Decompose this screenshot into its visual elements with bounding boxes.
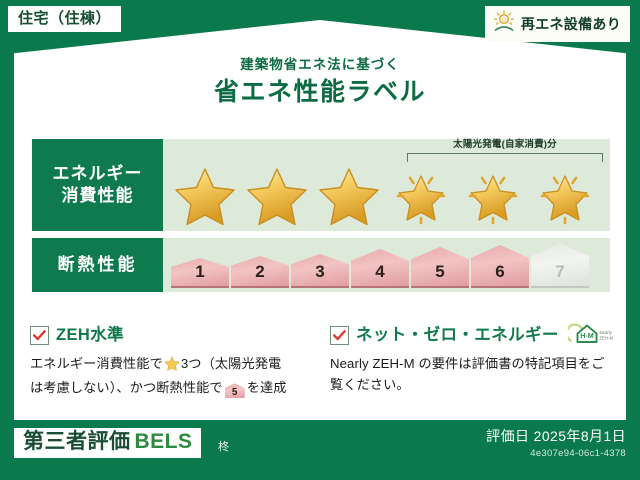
energy-row-panel: 太陽光発電(自家消費)分 — [163, 139, 610, 231]
grade-badge-2: 2 — [231, 256, 289, 288]
zeh-body-part3: を達成 — [247, 380, 287, 395]
solar-annotation-text: 太陽光発電(自家消費)分 — [407, 140, 603, 150]
star-filled-1 — [169, 164, 241, 228]
grade-shape-2: 2 — [231, 256, 289, 288]
zeh-standard-block: ZEH水準 エネルギー消費性能で 3つ（太陽光発電 は考慮しない）、かつ断熱性能… — [30, 324, 314, 399]
grade-badge-1: 1 — [171, 258, 229, 288]
title-block: 建築物省エネ法に基づく 省エネ性能ラベル — [0, 58, 640, 106]
star-filled-3 — [313, 164, 385, 228]
zeh-standard-body: エネルギー消費性能で 3つ（太陽光発電 は考慮しない）、かつ断熱性能で5を達成 — [30, 353, 314, 399]
grade-badge-4: 4 — [351, 249, 409, 288]
net-zero-energy-block: ネット・ゼロ・エネルギー H-M Nearly ZEH-M Nearly ZEH… — [330, 324, 614, 396]
grade-shape-1: 1 — [171, 258, 229, 288]
insulation-row-label: 断熱性能 — [32, 238, 163, 292]
inline-star-icon — [164, 359, 180, 374]
zeh-m-logo-icon: H-M Nearly ZEH-M — [568, 321, 620, 350]
evaluation-id: 4e307e94-06c1-4378 — [486, 449, 626, 459]
net-zero-checkbox — [330, 326, 349, 345]
grade-number-5: 5 — [435, 263, 444, 286]
star-solar-5 — [457, 164, 529, 228]
inline-grade-badge: 5 — [225, 383, 245, 398]
energy-label-line2: 消費性能 — [62, 185, 134, 207]
grade-number-1: 1 — [195, 263, 204, 286]
zeh-standard-title: ZEH水準 — [56, 327, 124, 344]
grade-shape-7: 7 — [531, 243, 589, 288]
energy-label-line1: エネルギー — [53, 163, 143, 185]
title-subtitle: 建築物省エネ法に基づく — [0, 58, 640, 73]
grade-scale: 1 2 3 4 — [171, 242, 602, 288]
grade-number-7: 7 — [555, 263, 564, 286]
building-type-text: 住宅（住棟） — [18, 10, 111, 27]
insulation-performance-row: 断熱性能 1 2 3 — [32, 238, 610, 292]
net-zero-title: ネット・ゼロ・エネルギー — [356, 327, 559, 344]
energy-row-label: エネルギー 消費性能 — [32, 139, 163, 231]
zeh-body-star-count: 3つ（太陽光発電 — [181, 356, 281, 371]
building-type-chip: 住宅（住棟） — [8, 6, 121, 32]
bels-jp-text: 第三者評価 — [23, 431, 131, 453]
grade-shape-6: 6 — [471, 245, 529, 288]
bels-chip: 第三者評価 BELS — [14, 428, 201, 458]
svg-text:H-M: H-M — [580, 331, 594, 340]
grade-badge-7: 7 — [531, 243, 589, 288]
zeh-body-part2: は考慮しない）、かつ断熱性能で — [30, 380, 223, 395]
evaluation-date-label: 評価日 — [486, 428, 529, 444]
grade-number-6: 6 — [495, 263, 504, 286]
page-title: 省エネ性能ラベル — [0, 79, 640, 107]
star-solar-4 — [385, 164, 457, 228]
zeh-standard-checkbox — [30, 326, 49, 345]
zeh-standard-header: ZEH水準 — [30, 324, 314, 346]
energy-performance-row: エネルギー 消費性能 太陽光発電(自家消費)分 — [32, 139, 610, 231]
renewable-badge-text: 再エネ設備あり — [521, 17, 621, 31]
footer-bar: 第三者評価 BELS 柊 評価日 2025年8月1日 4e307e94-06c1… — [0, 420, 640, 480]
bels-en-text: BELS — [135, 431, 193, 453]
grade-shape-4: 4 — [351, 249, 409, 288]
bels-mark: 柊 — [218, 442, 229, 453]
check-icon — [33, 330, 46, 341]
renewable-energy-badge: D 再エネ設備あり — [485, 6, 630, 42]
check-icon — [333, 330, 346, 341]
svg-text:D: D — [502, 18, 506, 24]
grade-number-3: 3 — [315, 263, 324, 286]
grade-number-4: 4 — [375, 263, 384, 286]
grade-shape-5: 5 — [411, 247, 469, 288]
star-rating — [169, 163, 604, 228]
sun-icon: D — [492, 10, 516, 37]
star-filled-2 — [241, 164, 313, 228]
evaluation-date-value: 2025年8月1日 — [534, 428, 626, 444]
net-zero-body: Nearly ZEH-M の要件は評価書の特記項目をご覧ください。 — [330, 353, 614, 396]
grade-badge-6: 6 — [471, 245, 529, 288]
grade-badge-3: 3 — [291, 254, 349, 288]
grade-number-2: 2 — [255, 263, 264, 286]
solar-bracket — [407, 153, 603, 162]
star-solar-6 — [529, 164, 601, 228]
grade-shape-3: 3 — [291, 254, 349, 288]
svg-text:ZEH-M: ZEH-M — [599, 335, 613, 340]
net-zero-header: ネット・ゼロ・エネルギー H-M Nearly ZEH-M — [330, 324, 614, 346]
insulation-label-text: 断熱性能 — [58, 254, 138, 276]
insulation-row-panel: 1 2 3 4 — [163, 238, 610, 292]
evaluation-date: 評価日 2025年8月1日 — [486, 428, 626, 445]
zeh-body-part1: エネルギー消費性能で — [30, 356, 163, 371]
svg-text:Nearly: Nearly — [599, 330, 612, 335]
evaluation-info: 評価日 2025年8月1日 4e307e94-06c1-4378 — [486, 428, 626, 458]
energy-performance-label: 住宅（住棟） D 再エネ設備あり 建築物省エネ法に基づ — [0, 0, 640, 480]
grade-badge-5: 5 — [411, 247, 469, 288]
